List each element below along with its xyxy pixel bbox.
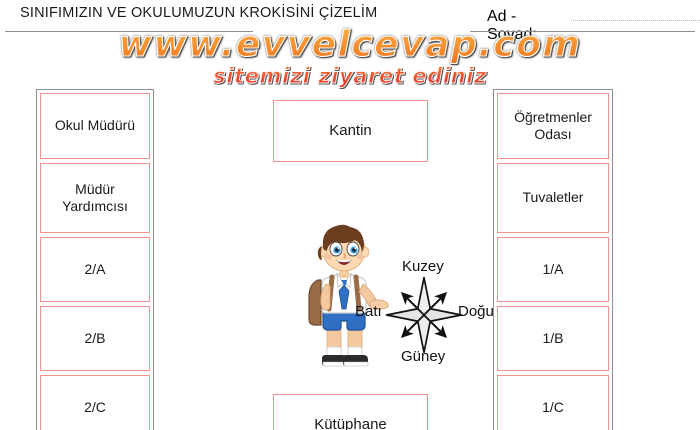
room-box-1b[interactable]: 1/B [497, 306, 609, 371]
room-box-mudur-yardimcisi[interactable]: Müdür Yardımcısı [40, 163, 150, 233]
room-box-kutuphane[interactable]: Kütüphane [273, 394, 428, 430]
room-box-okul-muduru[interactable]: Okul Müdürü [40, 93, 150, 159]
room-box-2b[interactable]: 2/B [40, 306, 150, 371]
worksheet-page: SINIFIMIZIN VE OKULUMUZUN KROKİSİNİ ÇİZE… [0, 0, 700, 430]
compass-label-east: Doğu [458, 303, 494, 320]
header-rule-left [5, 31, 253, 32]
header-rule-right [470, 31, 695, 32]
name-field-label: Ad - Soyad: [487, 8, 564, 44]
compass-rose: Kuzey Güney Batı Doğu [355, 258, 511, 370]
room-box-2a[interactable]: 2/A [40, 237, 150, 302]
right-room-column: Öğretmenler Odası Tuvaletler 1/A 1/B 1/C [497, 93, 609, 430]
compass-label-west: Batı [355, 303, 382, 320]
room-box-2c[interactable]: 2/C [40, 375, 150, 430]
room-box-ogretmenler-odasi[interactable]: Öğretmenler Odası [497, 93, 609, 159]
watermark-tagline: sitemizi ziyaret ediniz [0, 64, 700, 88]
page-title: SINIFIMIZIN VE OKULUMUZUN KROKİSİNİ ÇİZE… [20, 5, 377, 21]
room-box-kantin[interactable]: Kantin [273, 100, 428, 162]
room-box-1a[interactable]: 1/A [497, 237, 609, 302]
compass-star-icon [385, 276, 463, 354]
name-field: Ad - Soyad: [487, 8, 700, 44]
name-input-line[interactable] [571, 12, 700, 21]
compass-label-north: Kuzey [402, 258, 444, 275]
left-room-column: Okul Müdürü Müdür Yardımcısı 2/A 2/B 2/C [40, 93, 150, 430]
room-box-1c[interactable]: 1/C [497, 375, 609, 430]
room-box-tuvaletler[interactable]: Tuvaletler [497, 163, 609, 233]
